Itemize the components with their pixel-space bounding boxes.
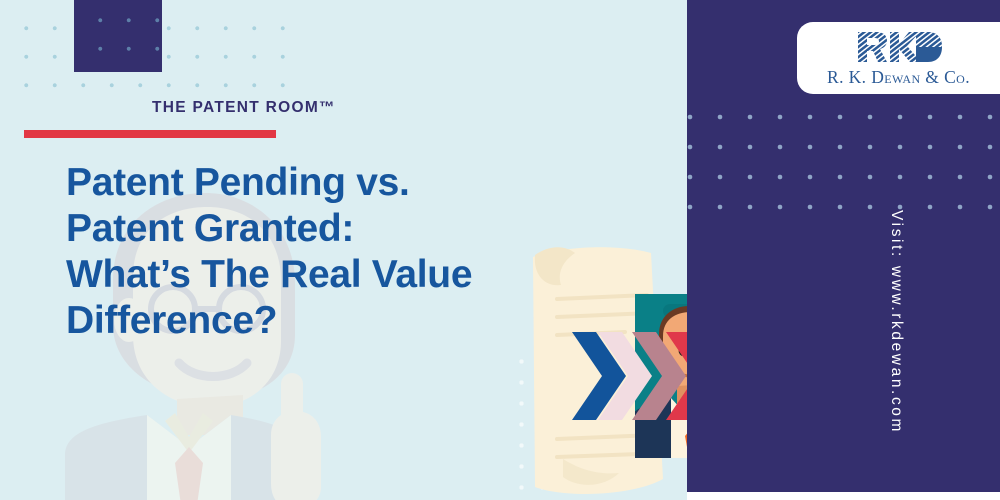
rkd-monogram-icon <box>856 30 942 64</box>
headline-line-1: Patent Pending vs. <box>66 160 686 206</box>
dot-grid-navy-bottom-icon <box>687 94 1000 219</box>
dot-grid-navy-top-icon <box>687 0 1000 20</box>
red-rule-divider <box>24 130 276 138</box>
bottom-white-strip <box>687 492 1000 500</box>
eyebrow-label: THE PATENT ROOM™ <box>152 99 336 117</box>
dot-grid-on-square-icon <box>74 0 162 72</box>
patent-room-banner: THE PATENT ROOM™ Patent Pending vs. Pate… <box>0 0 1000 500</box>
rkd-wordmark: R. K. Dewan & Co. <box>827 67 970 88</box>
rkd-logo-card[interactable]: R. K. Dewan & Co. <box>797 22 1000 94</box>
visit-url-label[interactable]: Visit: www.rkdewan.com <box>887 210 905 434</box>
